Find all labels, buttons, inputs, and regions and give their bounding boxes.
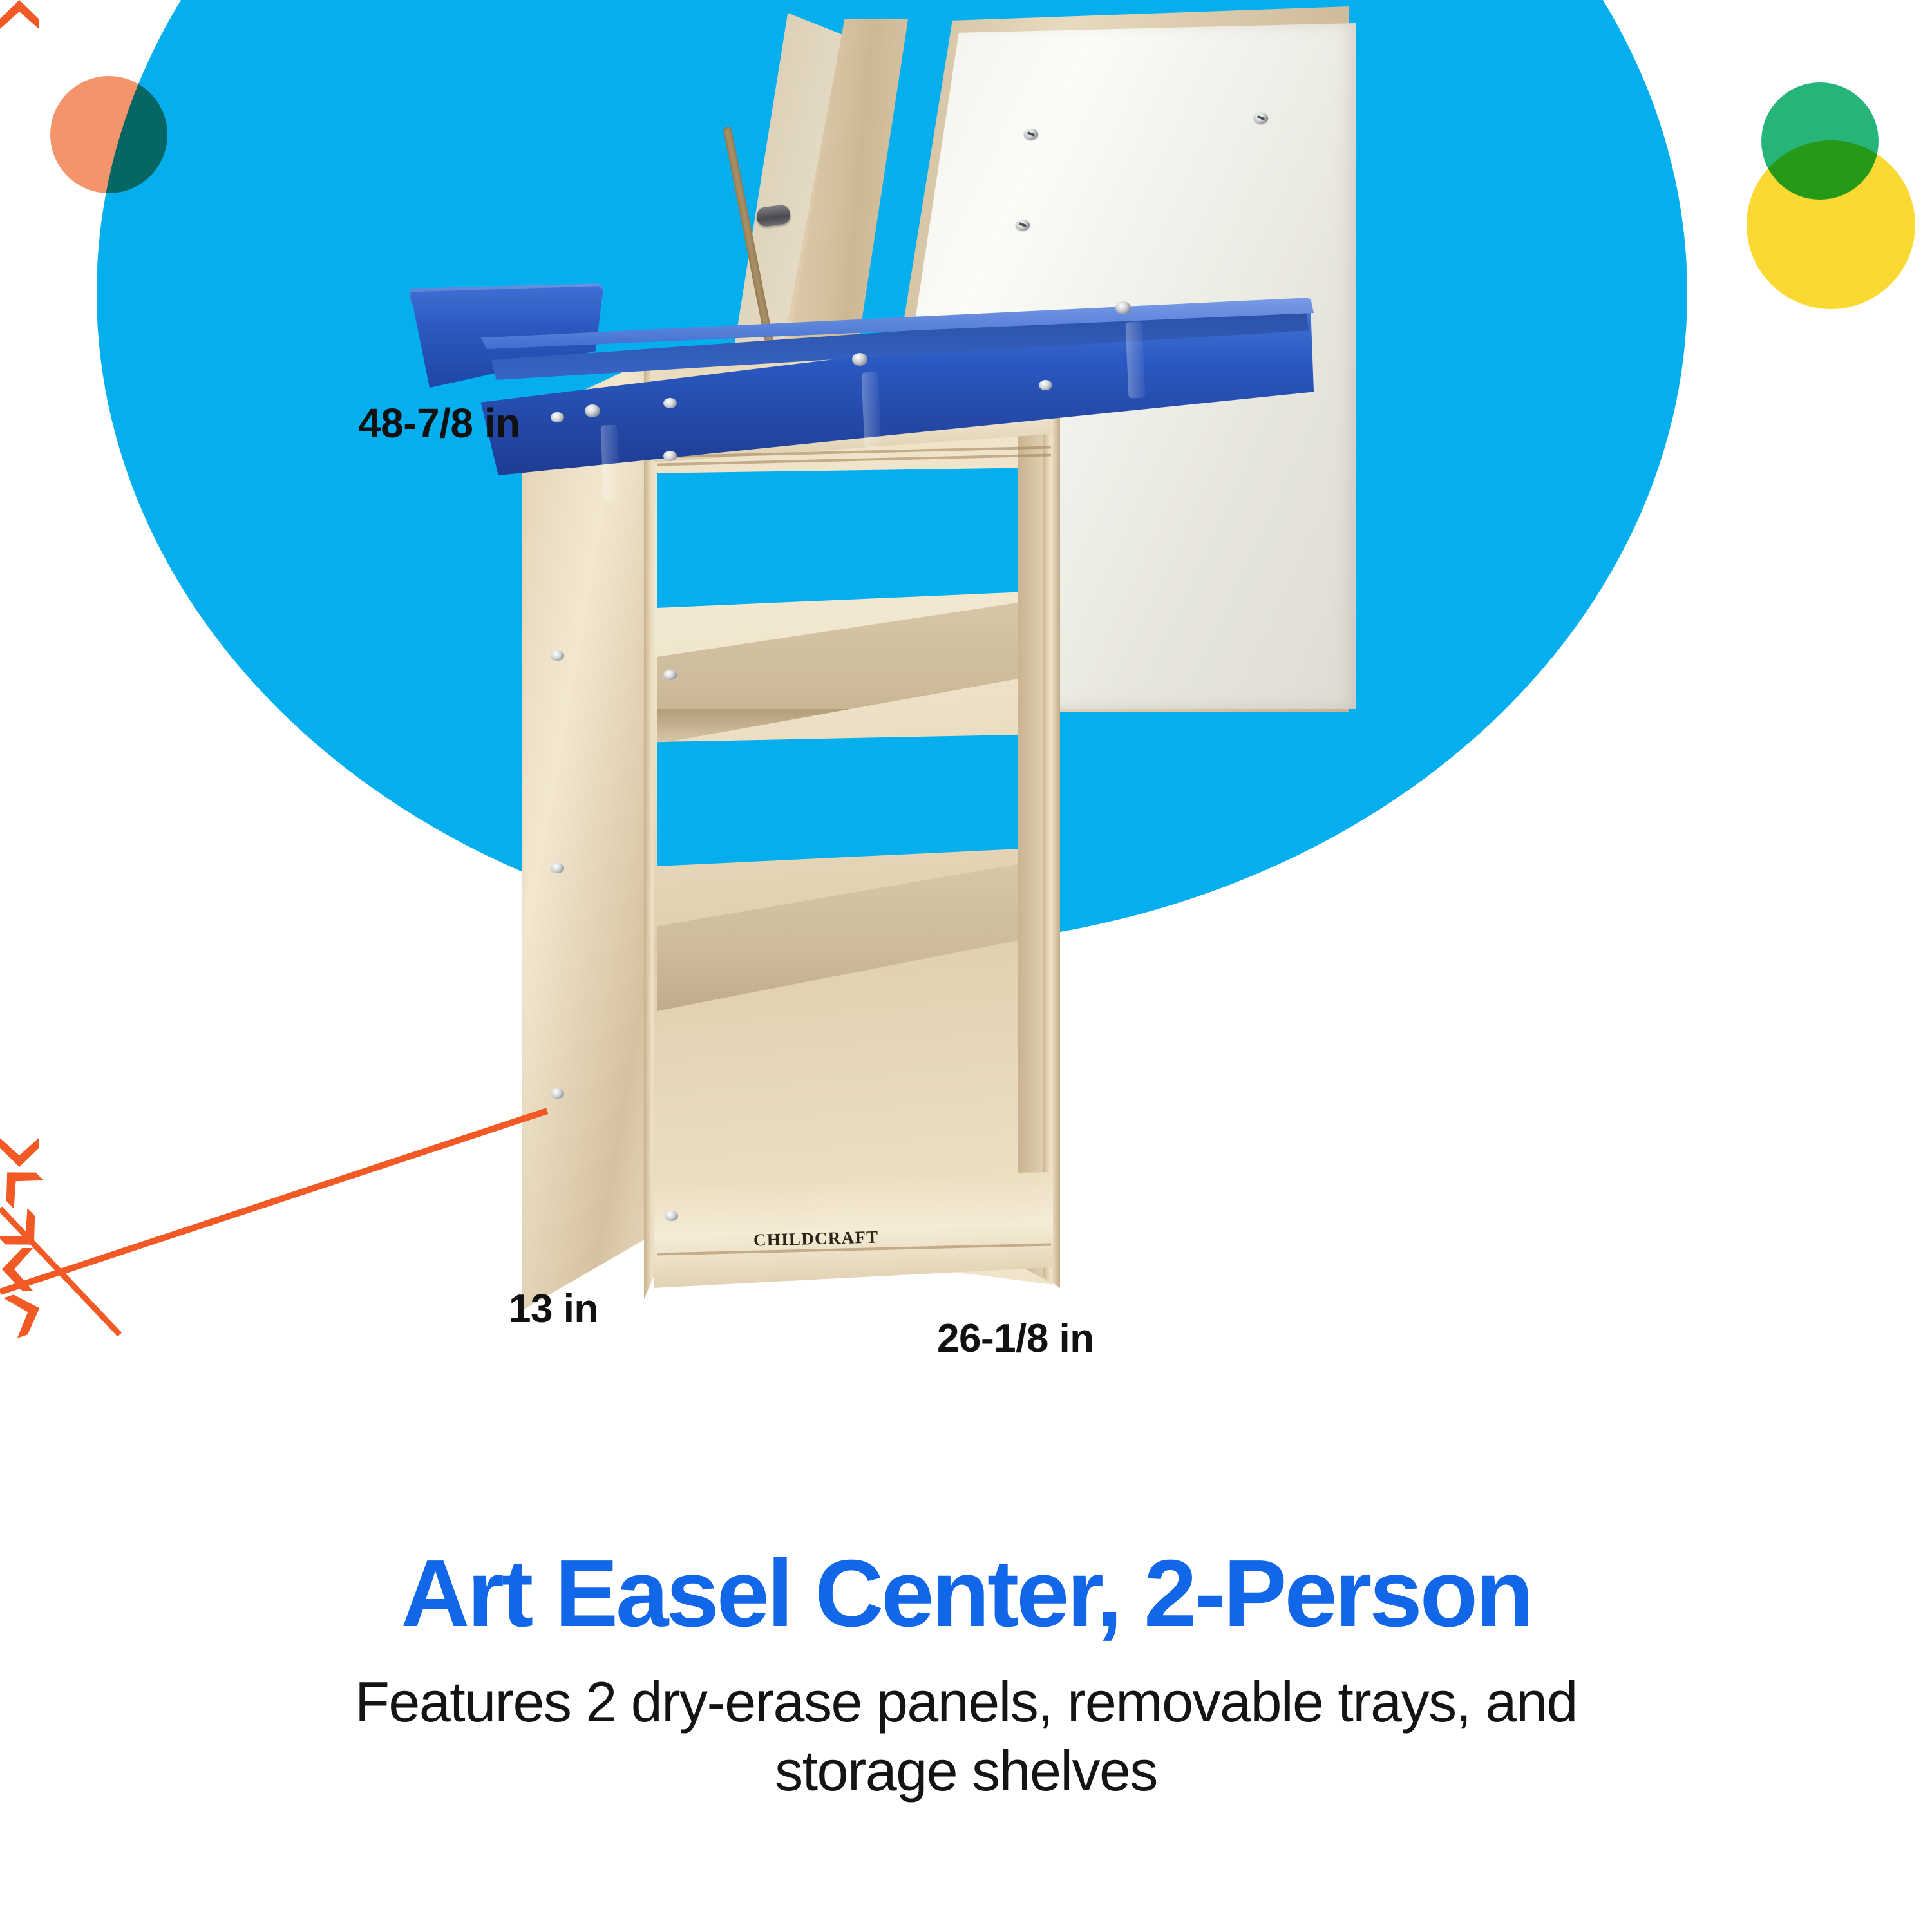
panel-screw — [1254, 113, 1268, 124]
tray-mount-screw — [585, 404, 600, 417]
tray-mount-screw — [1115, 301, 1131, 314]
depth-dimension-label: 13 in — [509, 1286, 598, 1332]
cabinet-right-plywood-edge — [1043, 357, 1060, 1288]
cabinet-screw — [1039, 380, 1052, 390]
height-dimension-line — [0, 36, 6, 1131]
product-title: Art Easel Center, 2-Person — [0, 1546, 1932, 1643]
cabinet-screw — [663, 451, 677, 461]
decorative-circle-salmon — [50, 76, 167, 193]
cabinet-left-side-panel — [522, 357, 654, 1311]
tray-mount-screw — [852, 353, 867, 366]
decorative-circle-yellow — [1747, 140, 1915, 309]
brand-logo-childcraft: CHILDCRAFT — [753, 1227, 879, 1250]
product-subtitle: Features 2 dry-erase panels, removable t… — [270, 1667, 1662, 1806]
cabinet-screw — [551, 863, 564, 873]
cabinet-screw — [551, 1088, 564, 1099]
panel-screw — [1024, 129, 1038, 140]
width-dimension-label: 26-1/8 in — [937, 1316, 1094, 1361]
height-dimension-label: 48-7/8 in — [358, 399, 520, 447]
tray-rib — [1125, 321, 1145, 398]
cabinet-screw — [663, 670, 677, 680]
height-arrowhead-bottom — [0, 1131, 39, 1167]
width-arrowhead-right — [0, 1288, 46, 1341]
cabinet-screw — [665, 1211, 678, 1221]
caption-block: Art Easel Center, 2-Person Features 2 dr… — [0, 1546, 1932, 1806]
cabinet-opening-upper — [657, 468, 1043, 608]
product-photo-art-easel: CHILDCRAFT — [528, 0, 1365, 1340]
height-arrowhead-top — [0, 0, 39, 36]
tray-rib — [600, 424, 620, 501]
infographic-canvas: CHILDCRAFT 48-7/8 in 13 in 26-1/8 in Art… — [0, 0, 1932, 1932]
cabinet-screw — [551, 650, 564, 661]
cabinet-screw — [663, 398, 677, 408]
width-dimension-line — [0, 1108, 548, 1295]
cabinet-screw — [551, 412, 564, 422]
tray-rib — [861, 372, 881, 448]
panel-screw — [1016, 220, 1030, 231]
cabinet-opening-lower — [657, 734, 1043, 866]
depth-arrowhead-upper — [0, 1158, 49, 1215]
